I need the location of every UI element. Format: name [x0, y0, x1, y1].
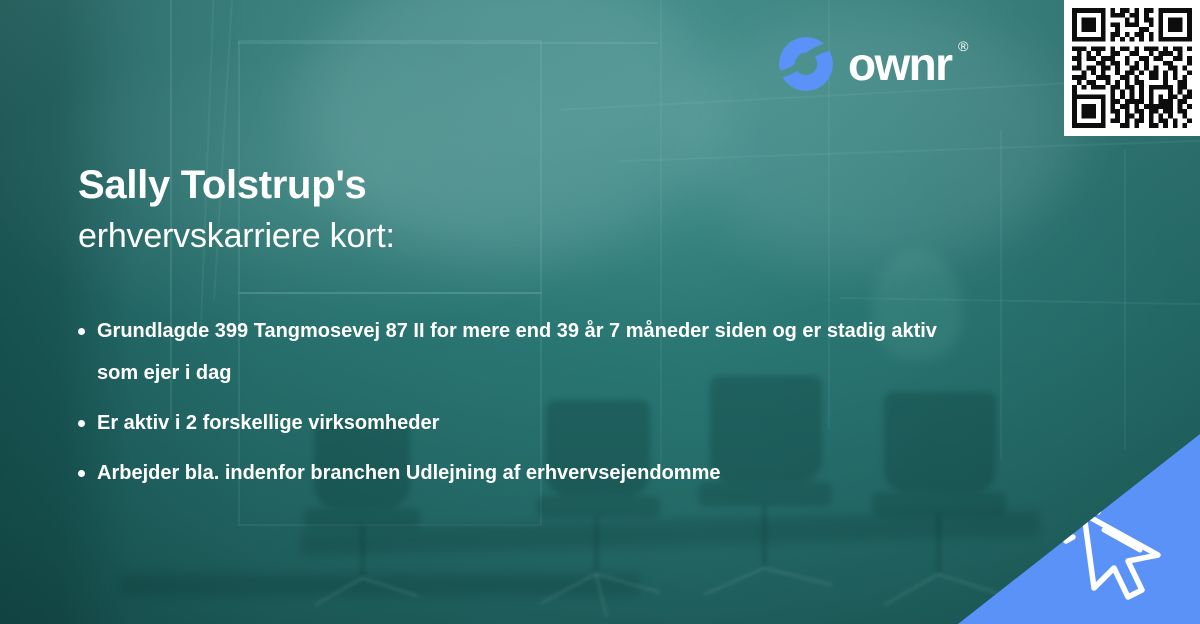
ownr-wordmark-text: ownr	[848, 38, 951, 90]
ownr-wordmark: ownr®	[848, 41, 951, 87]
bullet-dot-icon	[78, 470, 85, 477]
qr-code-panel[interactable]	[1064, 0, 1200, 136]
bullet-dot-icon	[78, 420, 85, 427]
bullet-dot-icon	[78, 328, 85, 335]
page-title: Sally Tolstrup's erhvervskarriere kort:	[78, 158, 938, 260]
career-facts-list: Grundlagde 399 Tangmosevej 87 II for mer…	[78, 310, 978, 502]
business-card-banner: ownr® Sally Tolstrup's erhvervskarriere …	[0, 0, 1200, 624]
page-title-line2: erhvervskarriere kort:	[78, 212, 938, 260]
registered-trademark-icon: ®	[958, 39, 968, 53]
list-item: Er aktiv i 2 forskellige virksomheder	[78, 402, 978, 444]
list-item: Grundlagde 399 Tangmosevej 87 II for mer…	[78, 310, 978, 394]
qr-code[interactable]	[1072, 8, 1192, 128]
list-item: Arbejder bla. indenfor branchen Udlejnin…	[78, 452, 978, 494]
ownr-circle-swoosh-logo-icon	[778, 36, 834, 92]
ownr-logo[interactable]: ownr®	[778, 36, 951, 92]
page-title-line1: Sally Tolstrup's	[78, 158, 938, 212]
list-item-label: Grundlagde 399 Tangmosevej 87 II for mer…	[97, 310, 978, 394]
list-item-label: Er aktiv i 2 forskellige virksomheder	[97, 402, 978, 444]
list-item-label: Arbejder bla. indenfor branchen Udlejnin…	[97, 452, 978, 494]
